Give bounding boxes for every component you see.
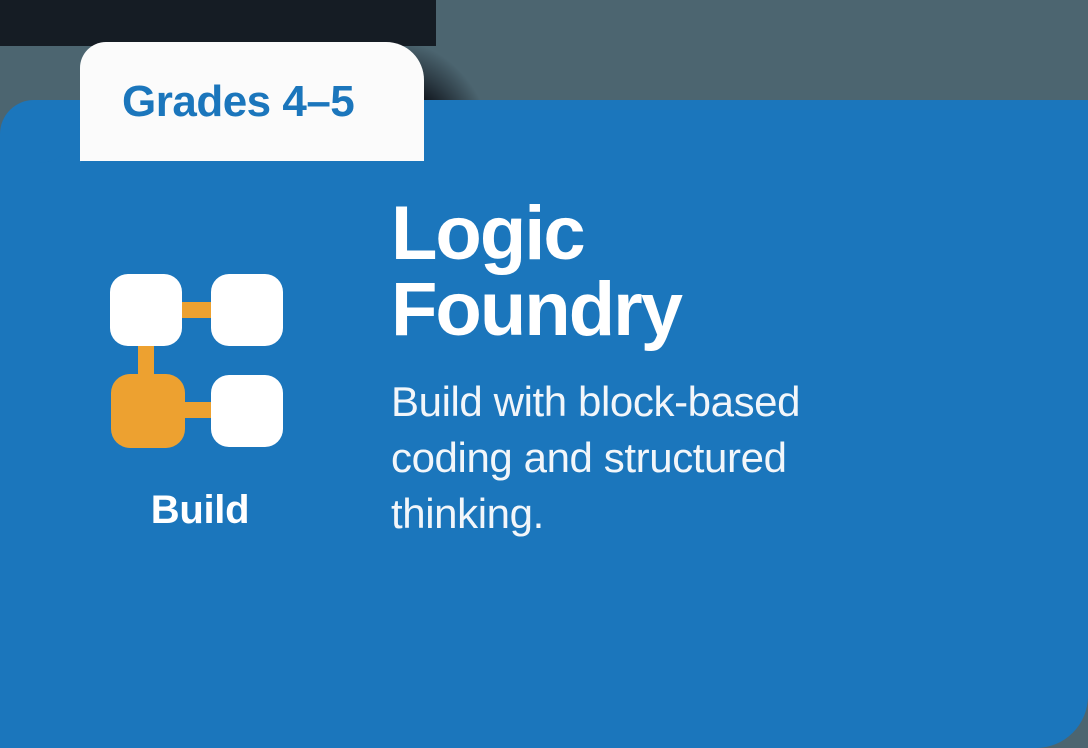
- card-title: Logic Foundry: [391, 196, 811, 348]
- card-left-column: Build: [60, 270, 340, 533]
- block-top-right: [211, 274, 283, 346]
- block-top-left: [110, 274, 182, 346]
- grade-level-badge[interactable]: Grades 4–5: [80, 42, 424, 161]
- card-kicker-label: Build: [60, 488, 340, 533]
- course-card-stage: Grades 4–5 Build Logic Foundry Build wit…: [0, 0, 1088, 732]
- grade-level-label: Grades 4–5: [122, 77, 354, 127]
- block-bottom-right: [211, 375, 283, 447]
- card-right-column: Logic Foundry Build with block-based cod…: [391, 196, 991, 542]
- backdrop-shadow-band: [0, 0, 436, 46]
- block-coding-nodes-icon: [110, 270, 290, 450]
- card-description: Build with block-based coding and struct…: [391, 374, 891, 542]
- block-bottom-left: [111, 374, 185, 448]
